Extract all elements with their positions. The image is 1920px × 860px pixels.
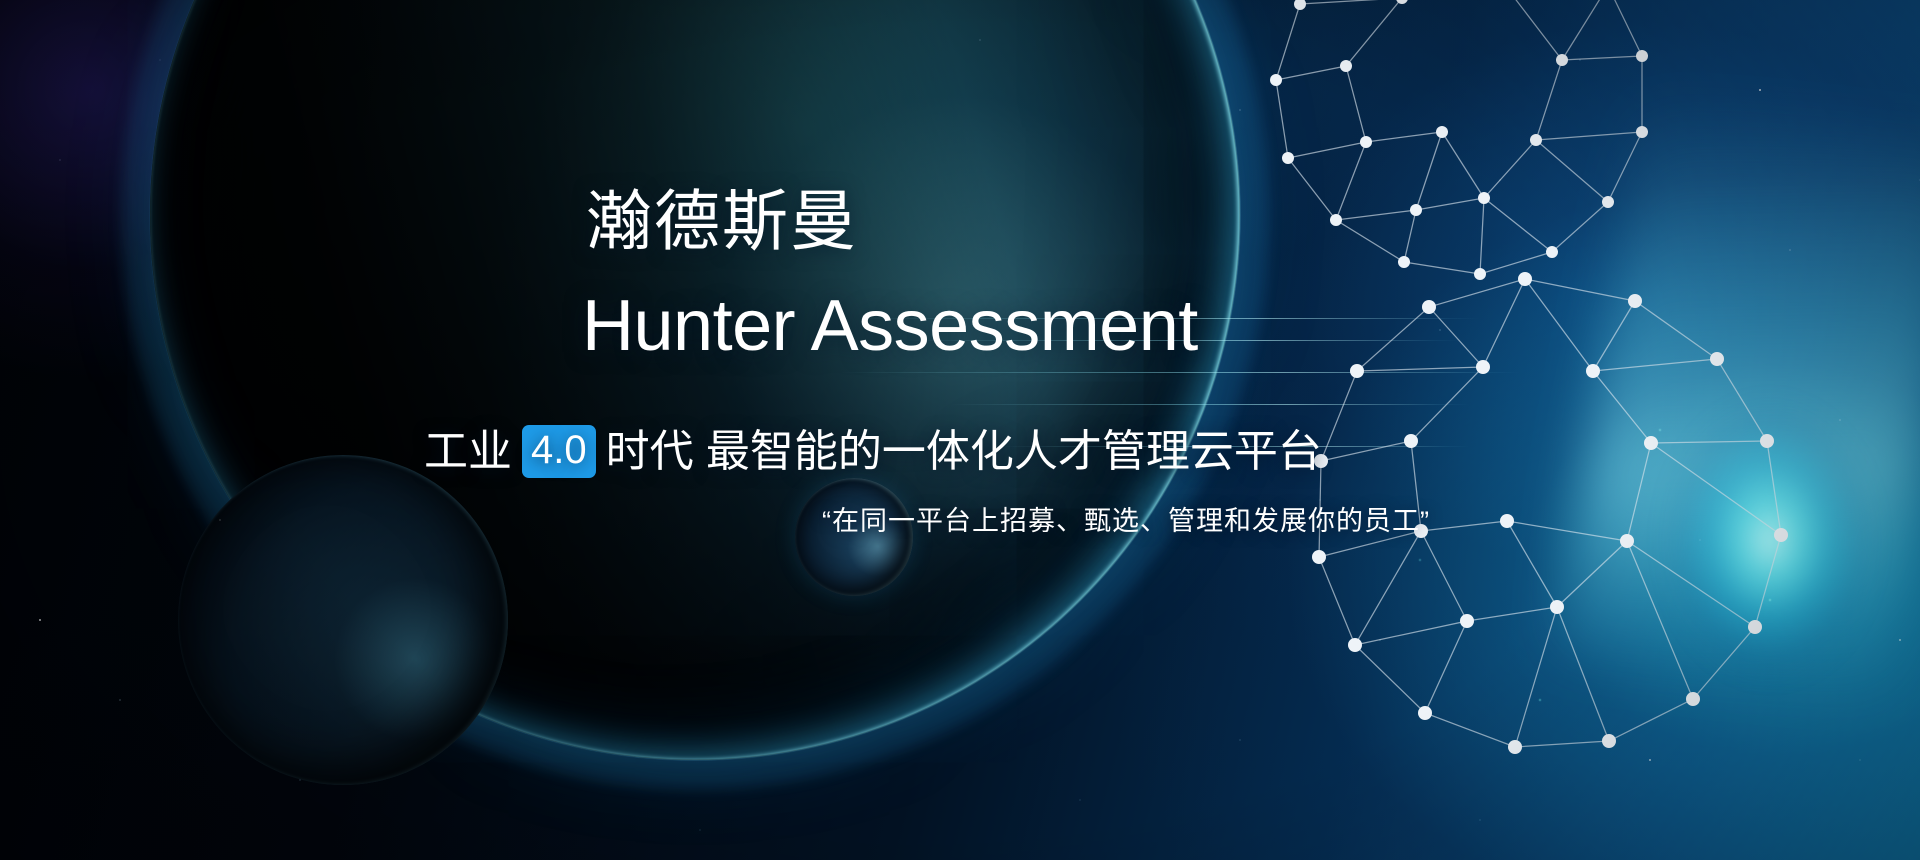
tagline: 工业 4.0 时代 最智能的一体化人才管理云平台 <box>424 425 1322 478</box>
brand-title-chinese: 瀚德斯曼 <box>586 188 858 254</box>
brand-title-english: Hunter Assessment <box>582 290 1198 362</box>
hero-banner: 瀚德斯曼 Hunter Assessment 工业 4.0 时代 最智能的一体化… <box>0 0 1920 860</box>
hero-content: 瀚德斯曼 Hunter Assessment 工业 4.0 时代 最智能的一体化… <box>0 0 1920 860</box>
industry-version-badge: 4.0 <box>522 425 596 478</box>
hero-subtitle-quote: “在同一平台上招募、甄选、管理和发展你的员工” <box>822 508 1430 535</box>
tagline-prefix: 工业 <box>424 430 512 474</box>
tagline-suffix: 时代 最智能的一体化人才管理云平台 <box>606 430 1322 474</box>
